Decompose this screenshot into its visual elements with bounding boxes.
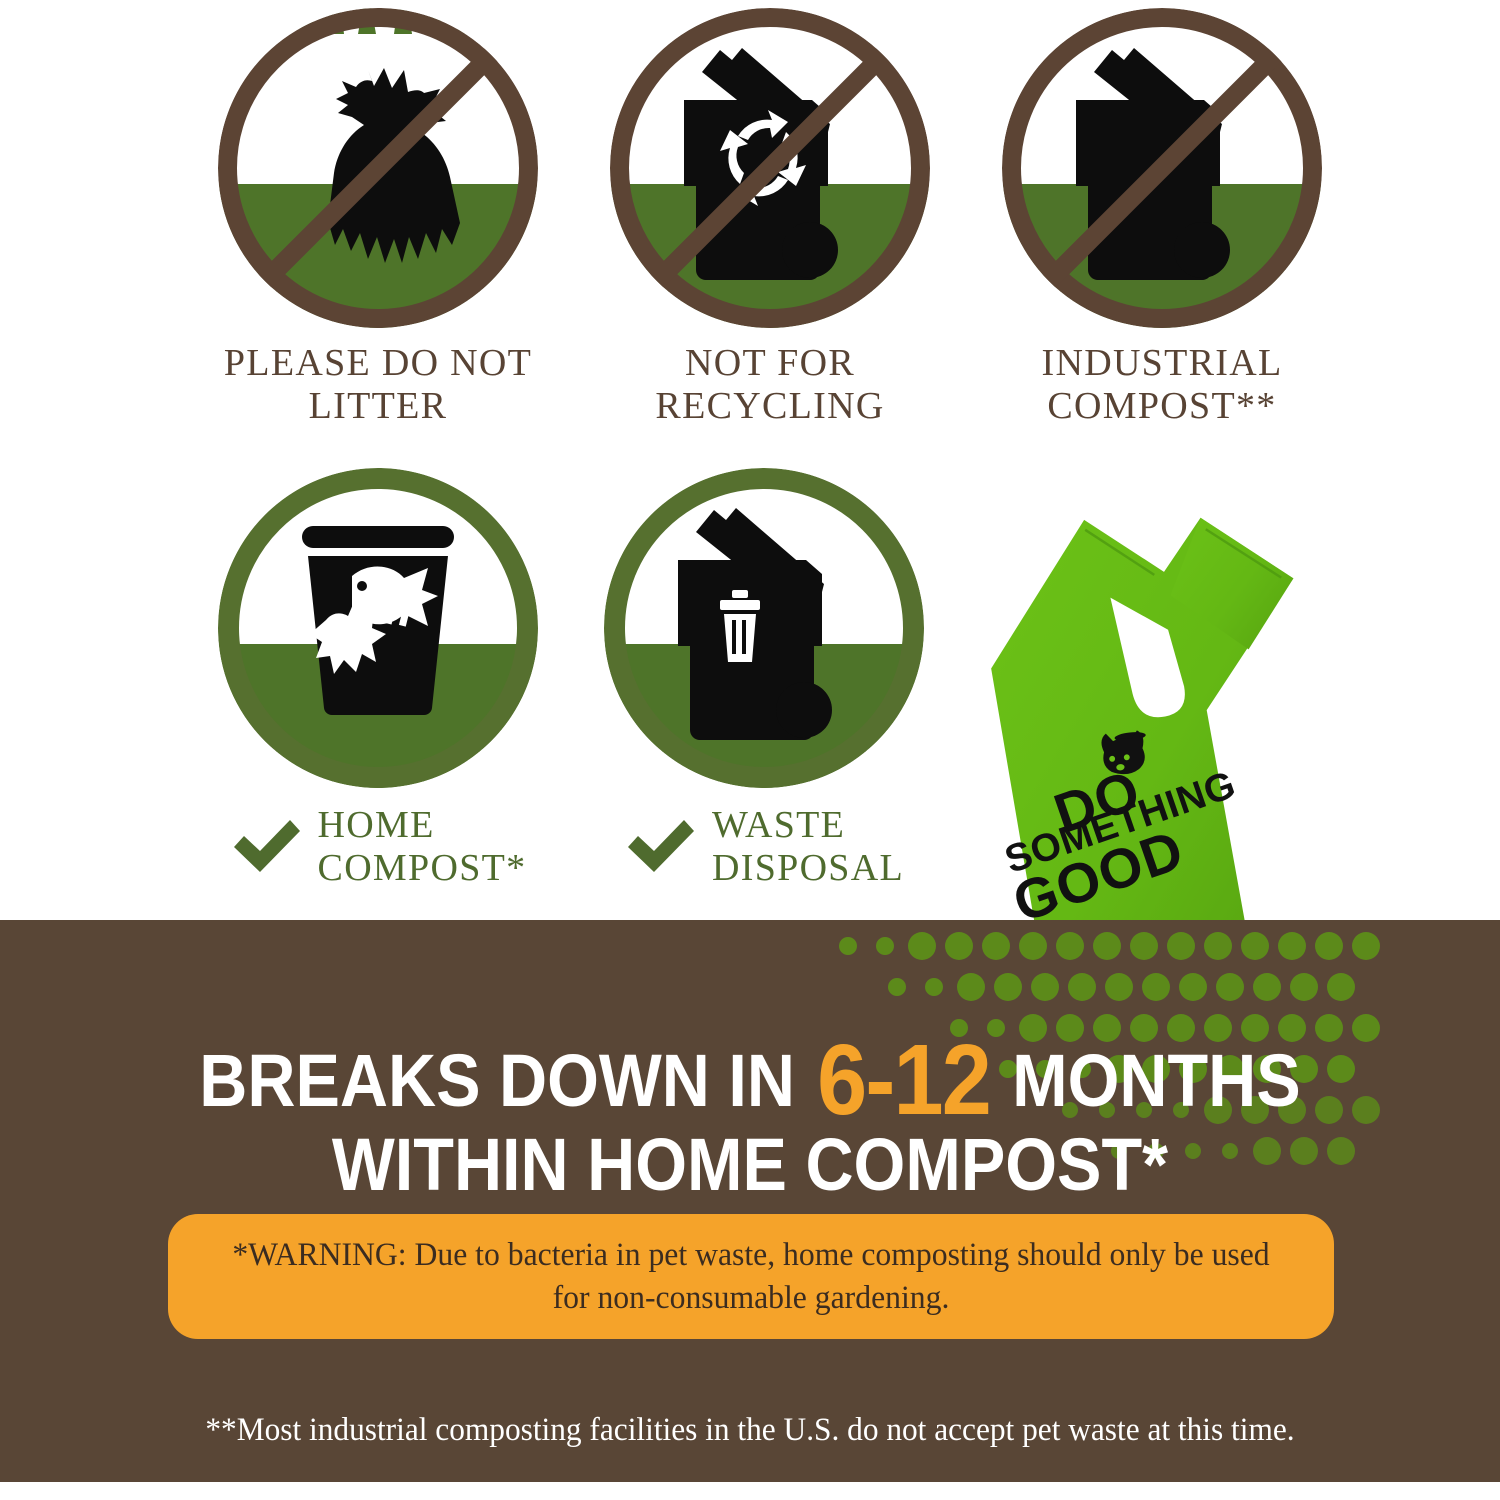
guide-item-industrial-compost: INDUSTRIAL COMPOST** bbox=[1002, 8, 1322, 427]
footnote-text: **Most industrial composting facilities … bbox=[38, 1412, 1463, 1449]
warning-callout: *WARNING: Due to bacteria in pet waste, … bbox=[168, 1214, 1334, 1339]
headline-duration: 6-12 bbox=[813, 1024, 993, 1136]
guide-item-waste-disposal: WASTE DISPOSAL bbox=[604, 468, 924, 889]
compost-pail-fish-bone-icon bbox=[218, 468, 538, 788]
check-mark-icon bbox=[230, 817, 302, 877]
compost-bin-prohibited-icon bbox=[1002, 8, 1322, 328]
trash-bag-on-grass-prohibited-icon bbox=[218, 8, 538, 328]
green-pet-waste-bag-photo: DO SOMETHING GOOD bbox=[955, 500, 1385, 920]
guide-label-recycling: NOT FOR RECYCLING bbox=[655, 342, 884, 427]
headline-line-2: WITHIN HOME COMPOST* bbox=[75, 1130, 1425, 1200]
allowed-icons-row: HOME COMPOST* bbox=[218, 468, 978, 889]
guide-item-home-compost: HOME COMPOST* bbox=[218, 468, 538, 889]
headline-post: MONTHS bbox=[1012, 1039, 1301, 1122]
headline-pre: BREAKS DOWN IN bbox=[199, 1039, 795, 1122]
guide-item-recycling: NOT FOR RECYCLING bbox=[610, 8, 930, 427]
disposal-guide-panel: PLEASE DO NOT LITTER bbox=[0, 0, 1500, 920]
warning-text: *WARNING: Due to bacteria in pet waste, … bbox=[191, 1234, 1310, 1318]
headline-block: BREAKS DOWN IN 6-12 MONTHS WITHIN HOME C… bbox=[0, 1025, 1500, 1200]
headline-line-1: BREAKS DOWN IN 6-12 MONTHS bbox=[75, 1025, 1425, 1120]
bottom-edge-strip bbox=[0, 1482, 1500, 1500]
prohibited-icons-row: PLEASE DO NOT LITTER bbox=[218, 8, 1318, 427]
check-mark-icon bbox=[624, 817, 696, 877]
guide-label-industrial-compost: INDUSTRIAL COMPOST** bbox=[1042, 342, 1283, 427]
guide-label-waste-disposal: WASTE DISPOSAL bbox=[712, 804, 904, 889]
guide-label-home-compost: HOME COMPOST* bbox=[318, 804, 527, 889]
guide-item-litter: PLEASE DO NOT LITTER bbox=[218, 8, 538, 427]
recycling-bin-prohibited-icon bbox=[610, 8, 930, 328]
claims-panel: BREAKS DOWN IN 6-12 MONTHS WITHIN HOME C… bbox=[0, 920, 1500, 1482]
guide-label-litter: PLEASE DO NOT LITTER bbox=[224, 342, 532, 427]
wheelie-trash-bin-icon bbox=[604, 468, 924, 788]
